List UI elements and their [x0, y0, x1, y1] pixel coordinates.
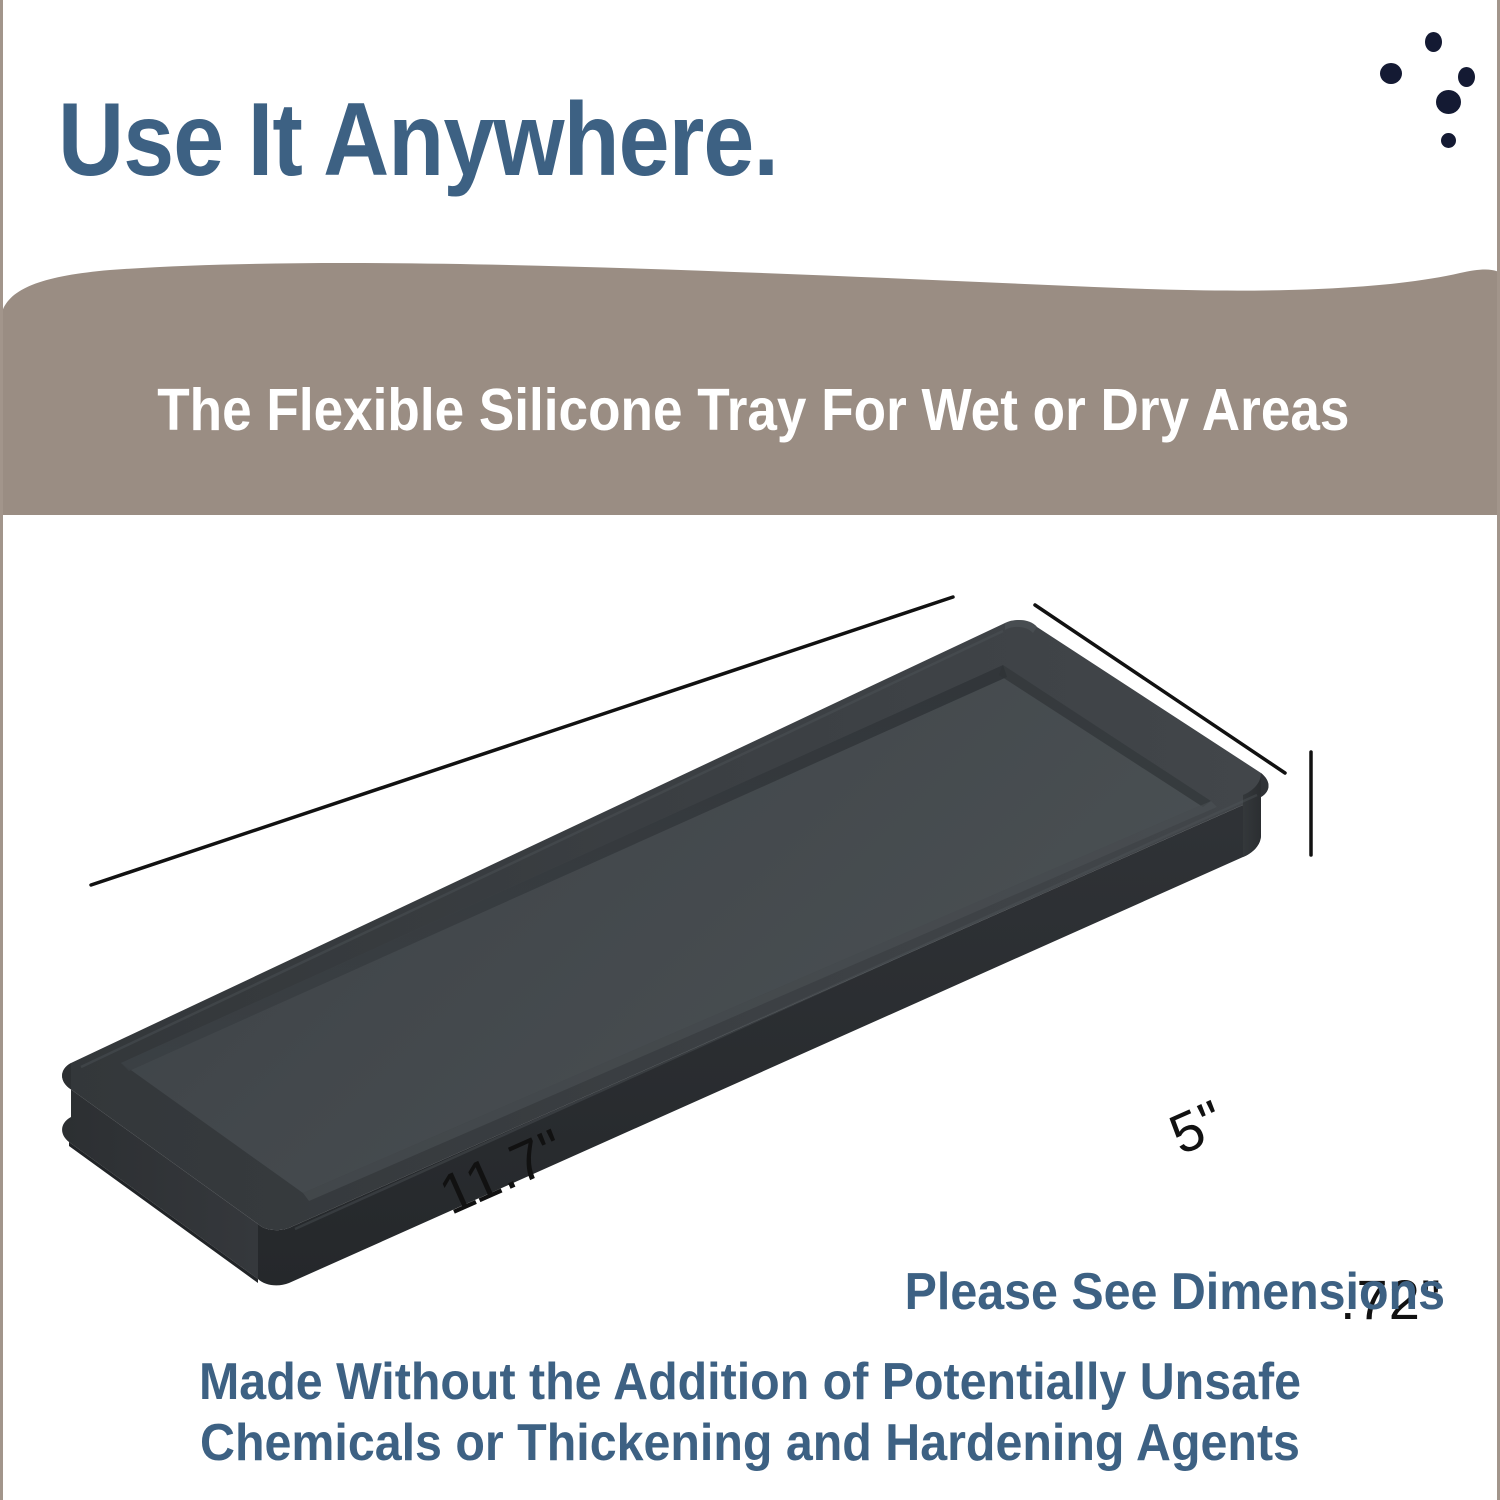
- banner-text-wrapper: The Flexible Silicone Tray For Wet or Dr…: [0, 255, 1500, 515]
- safety-note-line-2: Chemicals or Thickening and Hardening Ag…: [55, 1413, 1444, 1474]
- decorative-dot-left: [1380, 63, 1402, 84]
- safety-note: Made Without the Addition of Potentially…: [3, 1352, 1497, 1475]
- subtitle-banner: The Flexible Silicone Tray For Wet or Dr…: [0, 255, 1500, 515]
- decorative-dot-top: [1425, 32, 1442, 52]
- decorative-dot-right: [1458, 67, 1475, 87]
- page-title: Use It Anywhere.: [58, 88, 778, 192]
- product-image-area: spacewise spacewise 11.7" 5" .72": [3, 515, 1500, 1295]
- banner-subtitle: The Flexible Silicone Tray For Wet or Dr…: [157, 376, 1349, 444]
- decorative-dot-bottom: [1441, 133, 1456, 148]
- safety-note-line-1: Made Without the Addition of Potentially…: [55, 1352, 1444, 1413]
- decorative-dot-center: [1436, 90, 1461, 114]
- product-marketing-image: Use It Anywhere. The Flexible Silicone T…: [0, 0, 1500, 1500]
- decorative-dots-cluster: [1333, 10, 1500, 200]
- tray-illustration: spacewise spacewise: [3, 515, 1500, 1295]
- see-dimensions-text: Please See Dimensions: [905, 1262, 1445, 1322]
